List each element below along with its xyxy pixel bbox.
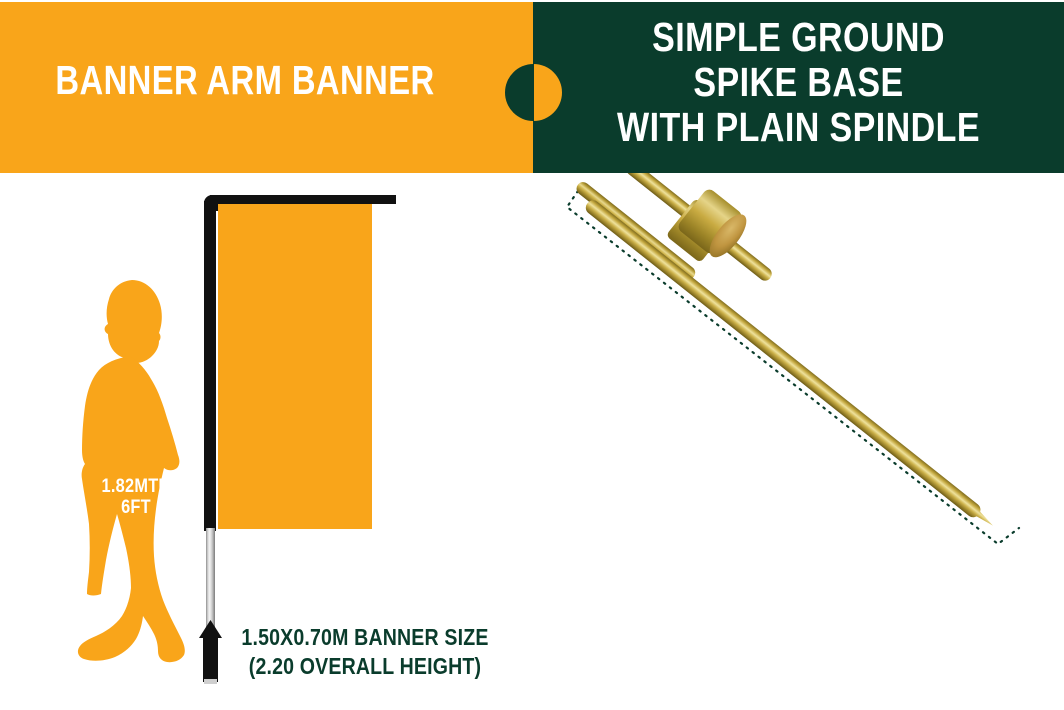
header-right-title-line-1: SIMPLE GROUND (578, 15, 1019, 60)
banner-horizontal-arm (210, 195, 396, 204)
person-height-imperial: 6FT (84, 497, 187, 518)
person-height-label: 1.82MTR 6FT (76, 476, 196, 518)
half-split-circle-right-half (534, 64, 563, 121)
ground-spike-product-image (533, 173, 1064, 573)
banner-vertical-pole (204, 201, 216, 531)
product-infographic: BANNER ARM BANNER SIMPLE GROUND SPIKE BA… (0, 0, 1064, 710)
person-height-metric: 1.82MTR (84, 476, 187, 497)
header-left-title: BANNER ARM BANNER (49, 58, 441, 102)
banner-size-line-2: (2.20 OVERALL HEIGHT) (238, 652, 493, 681)
header-right-title-line-2: SPIKE BASE (578, 60, 1019, 105)
header-left-orange-band: BANNER ARM BANNER (0, 2, 533, 173)
banner-size-caption: 1.50X0.70M BANNER SIZE (2.20 OVERALL HEI… (215, 623, 515, 681)
half-split-circle-left-half (505, 64, 534, 121)
walking-person-silhouette-icon: 1.82MTR 6FT (58, 278, 208, 678)
banner-size-line-1: 1.50X0.70M BANNER SIZE (238, 623, 493, 652)
header-right-title-line-3: WITH PLAIN SPINDLE (578, 105, 1019, 150)
header-right-title: SIMPLE GROUND SPIKE BASE WITH PLAIN SPIN… (533, 15, 1064, 150)
left-illustration-panel: 1.82MTR 6FT 1.50X0.70M BANNER SIZE (2.20… (0, 173, 533, 710)
banner-flag-panel (218, 204, 372, 529)
half-split-circle-icon (505, 64, 562, 121)
right-product-panel: 750MM - 29.5 INCHES SUITABLE TO USE WITH… (533, 173, 1064, 710)
header-banner: BANNER ARM BANNER SIMPLE GROUND SPIKE BA… (0, 2, 1064, 173)
